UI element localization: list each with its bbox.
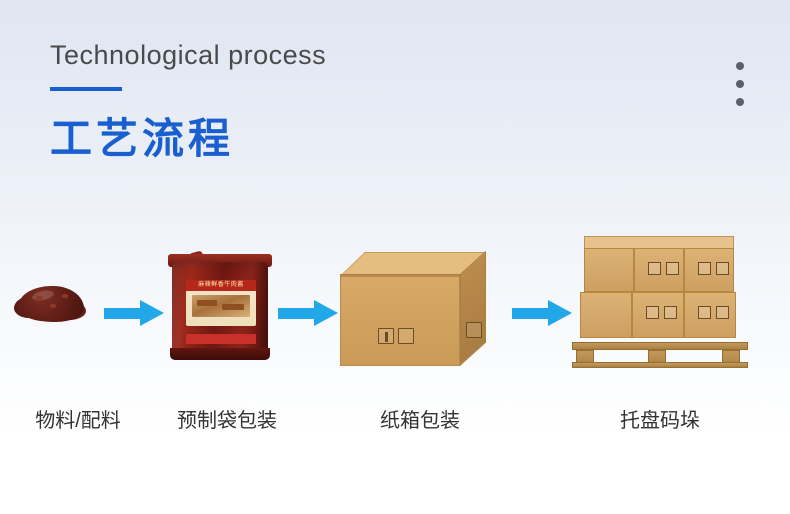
arrow-shaft	[278, 308, 318, 319]
pouch-bottom-seal	[170, 348, 270, 360]
carton-front-face	[340, 274, 460, 366]
step-1-sauce-illustration	[14, 280, 92, 330]
vertical-dots-menu-icon[interactable]	[736, 62, 744, 106]
pallet-box-mark-icon	[716, 306, 729, 319]
arrow-shaft	[512, 308, 552, 319]
page-header: Technological process 工艺流程	[50, 40, 326, 166]
menu-dot	[736, 98, 744, 106]
flow-arrow-2-icon	[278, 300, 340, 326]
pallet-box	[580, 292, 632, 338]
sauce-chunk	[36, 296, 43, 301]
step-1-label: 物料/配料	[10, 404, 146, 433]
carton-side-mark-icon	[466, 322, 482, 338]
pallet-box-mark-icon	[664, 306, 677, 319]
pallet-box-mark-icon	[698, 306, 711, 319]
step-3-label: 纸箱包装	[360, 404, 480, 433]
pallet-bottom-board	[572, 362, 748, 368]
carton-umbrella-mark-icon	[398, 328, 414, 344]
wooden-pallet	[570, 342, 750, 368]
pouch-brand-text: 麻辣鲜香牛肉酱	[186, 280, 256, 291]
flow-arrow-3-icon	[512, 300, 574, 326]
pallet-box-mark-icon	[666, 262, 679, 275]
carton-tape-seam	[340, 274, 460, 277]
menu-dot	[736, 62, 744, 70]
arrow-head	[548, 300, 572, 326]
step-4-pallet-illustration	[570, 236, 750, 368]
slide-canvas: Technological process 工艺流程 麻辣鲜香牛肉酱	[0, 0, 790, 514]
pallet-box-mark-icon	[698, 262, 711, 275]
pallet-box	[584, 248, 634, 292]
title-divider-rule	[50, 87, 122, 91]
pouch-label-photo	[192, 295, 250, 317]
arrow-head	[314, 300, 338, 326]
photo-detail	[222, 304, 244, 310]
step-4-label: 托盘码垛	[600, 404, 720, 433]
pallet-box-mark-icon	[648, 262, 661, 275]
carton-fragile-mark-icon	[378, 328, 394, 344]
pouch-bottom-stripe	[186, 334, 256, 344]
pouch-front-label: 麻辣鲜香牛肉酱	[186, 280, 256, 326]
step-2-label: 预制袋包装	[157, 404, 297, 433]
pallet-box-mark-icon	[646, 306, 659, 319]
pallet-box-mark-icon	[716, 262, 729, 275]
step-3-carton-illustration	[340, 252, 500, 368]
pouch-label-banner: 麻辣鲜香牛肉酱	[186, 280, 256, 291]
menu-dot	[736, 80, 744, 88]
sauce-chunk	[50, 304, 56, 308]
page-title-chinese: 工艺流程	[50, 105, 326, 166]
arrow-head	[140, 300, 164, 326]
flow-arrow-1-icon	[104, 300, 166, 326]
pallet-deck-board	[572, 342, 748, 350]
sauce-chunk	[62, 294, 68, 298]
arrow-shaft	[104, 308, 144, 319]
photo-detail	[197, 300, 217, 306]
step-2-pouch-illustration: 麻辣鲜香牛肉酱	[168, 252, 272, 360]
page-title-english: Technological process	[50, 40, 326, 71]
